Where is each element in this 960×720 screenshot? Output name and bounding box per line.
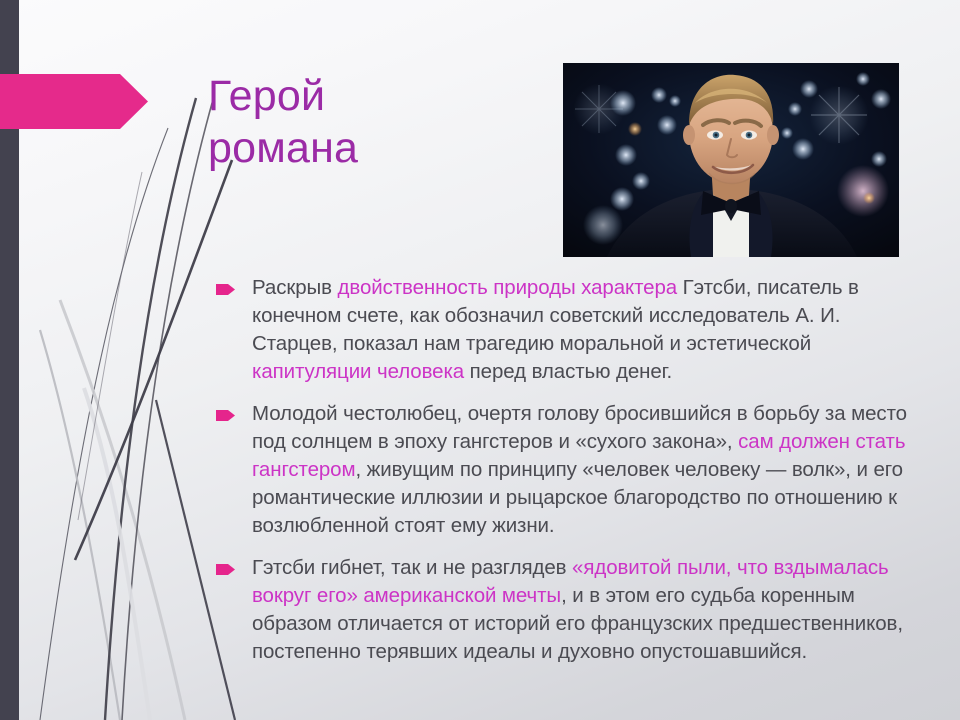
run-highlight: двойственность природы характера: [338, 276, 678, 299]
run-plain: Раскрыв: [252, 276, 338, 299]
bullet-list: Раскрыв двойственность природы характера…: [216, 274, 918, 666]
presentation-slide: Герой романа: [0, 0, 960, 720]
pink-chevron-banner: [0, 74, 148, 129]
page-title: Герой романа: [208, 70, 538, 175]
run-highlight: капитуляции человека: [252, 360, 464, 383]
list-item: Раскрыв двойственность природы характера…: [216, 274, 918, 386]
bullet-paragraph-2: Молодой честолюбец, очертя голову бросив…: [252, 400, 918, 540]
arrow-bullet-icon: [216, 409, 236, 422]
list-item: Гэтсби гибнет, так и не разглядев «ядови…: [216, 554, 918, 666]
arrow-bullet-icon: [216, 563, 236, 576]
bullet-paragraph-1: Раскрыв двойственность природы характера…: [252, 274, 918, 386]
run-plain: перед властью денег.: [464, 360, 672, 383]
hero-photo: [563, 63, 899, 257]
list-item: Молодой честолюбец, очертя голову бросив…: [216, 400, 918, 540]
bullet-paragraph-3: Гэтсби гибнет, так и не разглядев «ядови…: [252, 554, 918, 666]
arrow-bullet-icon: [216, 283, 236, 296]
run-plain: Гэтсби гибнет, так и не разглядев: [252, 556, 572, 579]
